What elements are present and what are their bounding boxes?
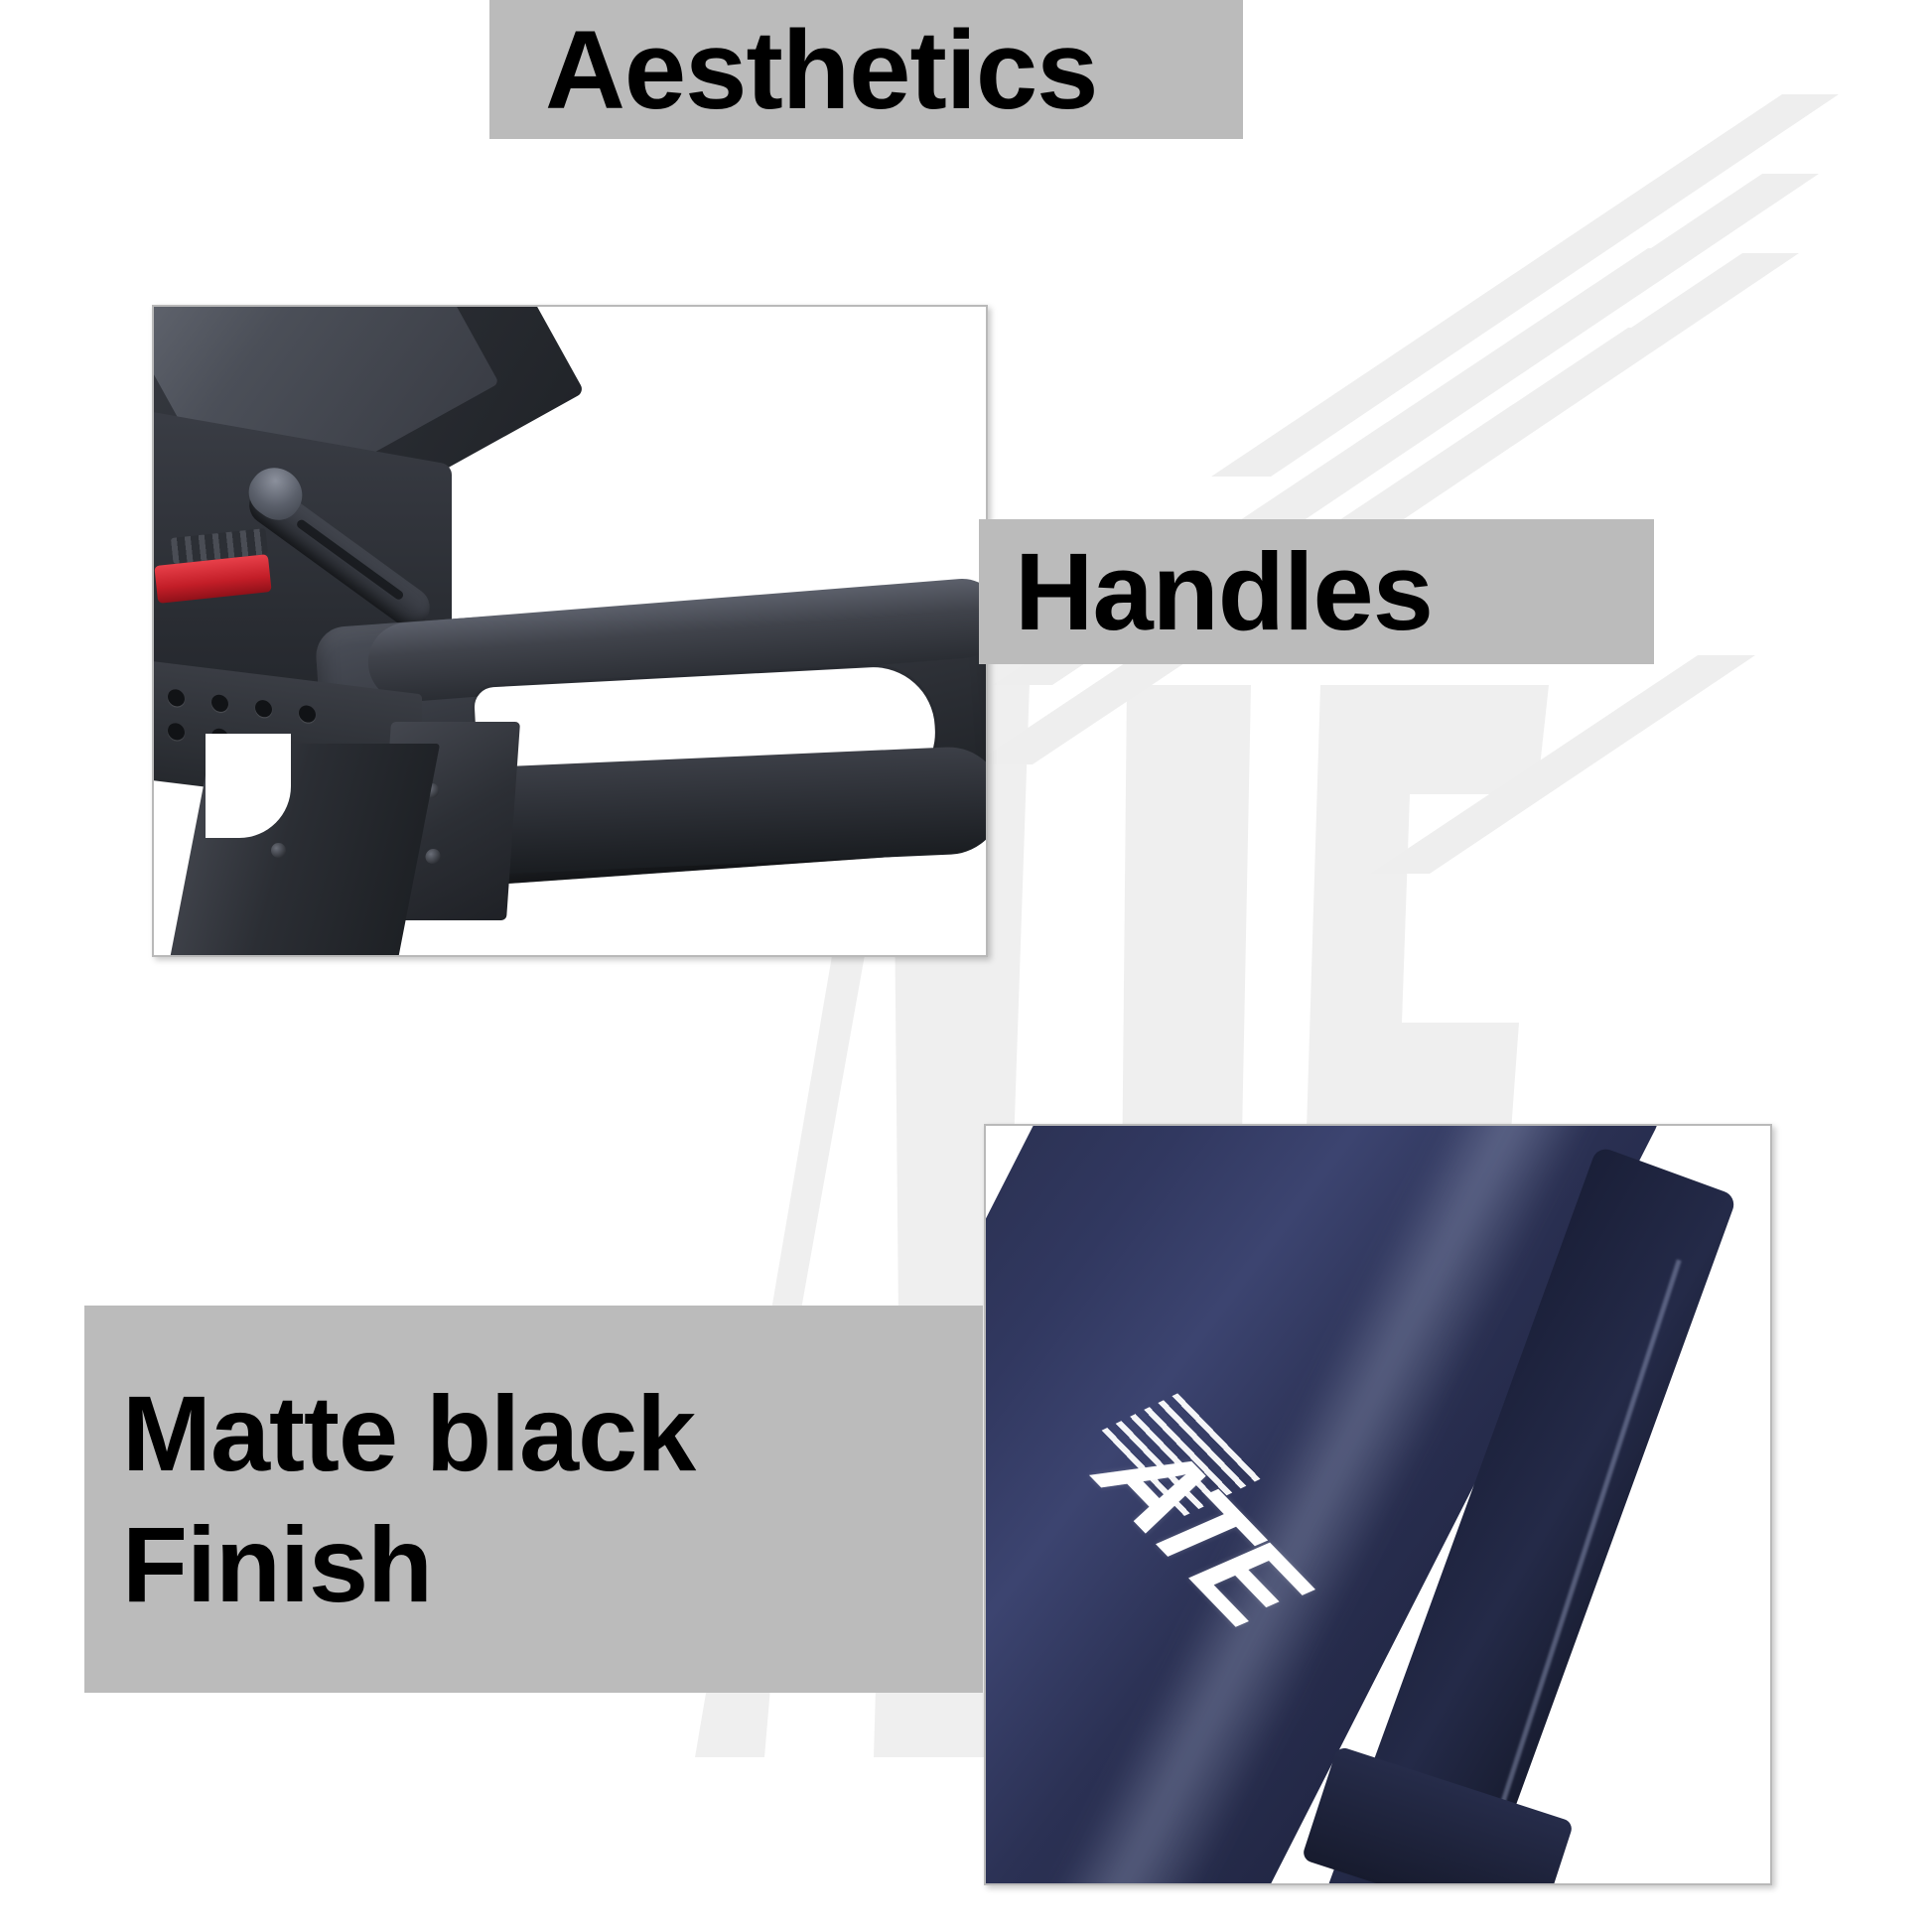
bolt-hole <box>255 699 272 718</box>
bolt-hole <box>211 694 228 713</box>
page-title-text: Aesthetics <box>545 6 1097 134</box>
bolt-hole <box>168 722 185 741</box>
callout-finish-line-2: Finish <box>122 1499 432 1630</box>
finish-photo: ATE <box>984 1124 1772 1885</box>
callout-handles-text: Handles <box>1015 529 1433 655</box>
product-feature-slide: ATE Aesthetics Handles Matte black Finis… <box>0 0 1932 1932</box>
callout-handles-label: Handles <box>979 519 1654 664</box>
finish-photo-content: ATE <box>986 1126 1770 1883</box>
callout-finish-label: Matte black Finish <box>84 1306 983 1693</box>
screw-icon <box>425 849 441 864</box>
bolt-hole <box>168 688 185 707</box>
handles-photo-content <box>154 307 986 955</box>
callout-finish-line-1: Matte black <box>122 1368 695 1499</box>
screw-icon <box>271 843 286 858</box>
page-title: Aesthetics <box>489 0 1243 139</box>
bolt-hole <box>299 705 316 724</box>
handles-photo <box>152 305 988 957</box>
